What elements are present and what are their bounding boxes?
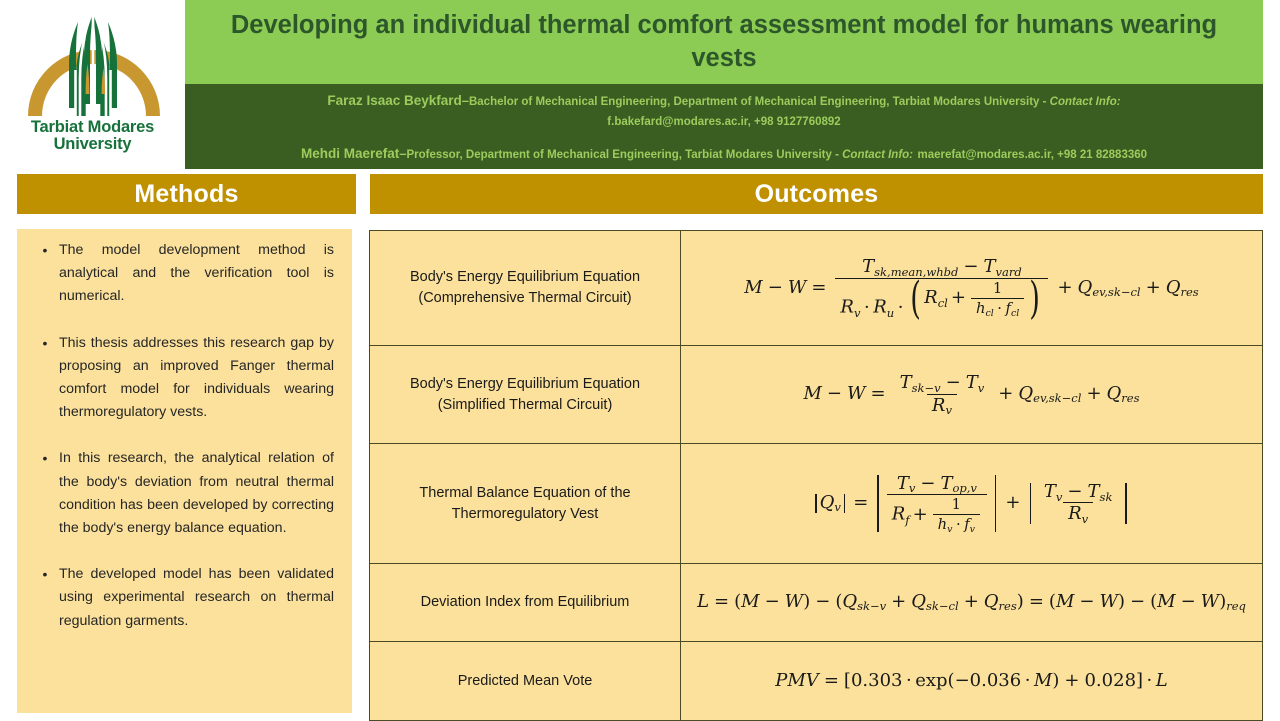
outcomes-section-bar: Outcomes: [370, 174, 1263, 214]
title-band: Developing an individual thermal comfort…: [185, 0, 1263, 84]
equation-formula-2: M−W= Tsk−v−Tv Rv +Qev,sk−cl+Qres: [681, 346, 1263, 444]
university-logo: Tarbiat Modares University: [0, 0, 185, 169]
poster-header: Tarbiat Modares University Developing an…: [0, 0, 1280, 169]
author-2-contact-label: Contact Info:: [842, 149, 913, 161]
author-1-name: Faraz Isaac Beykfard: [327, 93, 461, 108]
equation-formula-4: L=(M−W)−(Qsk−v+Qsk−cl+Qres)=(M−W)−(M−W)r…: [681, 564, 1263, 642]
bullet-icon: •: [25, 239, 59, 262]
author-1-affiliation: Bachelor of Mechanical Engineering, Depa…: [469, 96, 1050, 108]
outcomes-section-title: Outcomes: [755, 180, 879, 209]
methods-bullet-3: In this research, the analytical relatio…: [59, 447, 344, 540]
author-1-contact-label: Contact Info:: [1050, 96, 1121, 108]
equation-label-5: Predicted Mean Vote: [370, 642, 681, 721]
equation-formula-1: M−W= Tsk,mean,whbd−Tvard Rv·Ru·(Rcl+1hcl…: [681, 231, 1263, 346]
equation-label-4: Deviation Index from Equilibrium: [370, 564, 681, 642]
author-line-2: Mehdi Maerefat–Professor, Department of …: [185, 144, 1263, 164]
table-row: Predicted Mean Vote PMV=[0.303·exp(−0.03…: [370, 642, 1263, 721]
author-1-dash: –: [462, 93, 469, 108]
outcomes-equations-table: Body's Energy Equilibrium Equation (Comp…: [369, 230, 1263, 721]
methods-bullet-1: The model development method is analytic…: [59, 239, 344, 309]
authors-band: Faraz Isaac Beykfard–Bachelor of Mechani…: [185, 84, 1263, 169]
methods-bullet-2: This thesis addresses this research gap …: [59, 332, 344, 425]
author-2-affiliation: Professor, Department of Mechanical Engi…: [406, 149, 842, 161]
list-item: • This thesis addresses this research ga…: [25, 332, 344, 425]
table-row: Thermal Balance Equation of the Thermore…: [370, 444, 1263, 564]
bullet-icon: •: [25, 563, 59, 586]
equation-label-3: Thermal Balance Equation of the Thermore…: [370, 444, 681, 564]
bullet-icon: •: [25, 332, 59, 355]
author-line-1: Faraz Isaac Beykfard–Bachelor of Mechani…: [185, 91, 1263, 131]
author-1-contact: f.bakefard@modares.ac.ir, +98 9127760892: [607, 116, 840, 128]
equation-label-2: Body's Energy Equilibrium Equation (Simp…: [370, 346, 681, 444]
poster-title: Developing an individual thermal comfort…: [219, 9, 1229, 74]
methods-section-bar: Methods: [17, 174, 356, 214]
tarbiat-modares-emblem-icon: [18, 8, 168, 121]
list-item: • The model development method is analyt…: [25, 239, 344, 309]
methods-bullet-4: The developed model has been validated u…: [59, 563, 344, 633]
equation-formula-3: Qv= Tv−Top,v Rf+1hv·fv +: [681, 444, 1263, 564]
equation-formula-5: PMV=[0.303·exp(−0.036·M)+0.028]·L: [681, 642, 1263, 721]
methods-section-title: Methods: [134, 180, 238, 209]
methods-panel: • The model development method is analyt…: [17, 229, 352, 713]
equation-label-1: Body's Energy Equilibrium Equation (Comp…: [370, 231, 681, 346]
author-2-contact: maerefat@modares.ac.ir, +98 21 82883360: [917, 149, 1147, 161]
bullet-icon: •: [25, 447, 59, 470]
university-name: Tarbiat Modares University: [31, 119, 154, 153]
table-row: Body's Energy Equilibrium Equation (Simp…: [370, 346, 1263, 444]
university-name-line2: University: [31, 136, 154, 153]
list-item: • In this research, the analytical relat…: [25, 447, 344, 540]
list-item: • The developed model has been validated…: [25, 563, 344, 633]
table-row: Body's Energy Equilibrium Equation (Comp…: [370, 231, 1263, 346]
table-row: Deviation Index from Equilibrium L=(M−W)…: [370, 564, 1263, 642]
author-2-name: Mehdi Maerefat: [301, 146, 399, 161]
